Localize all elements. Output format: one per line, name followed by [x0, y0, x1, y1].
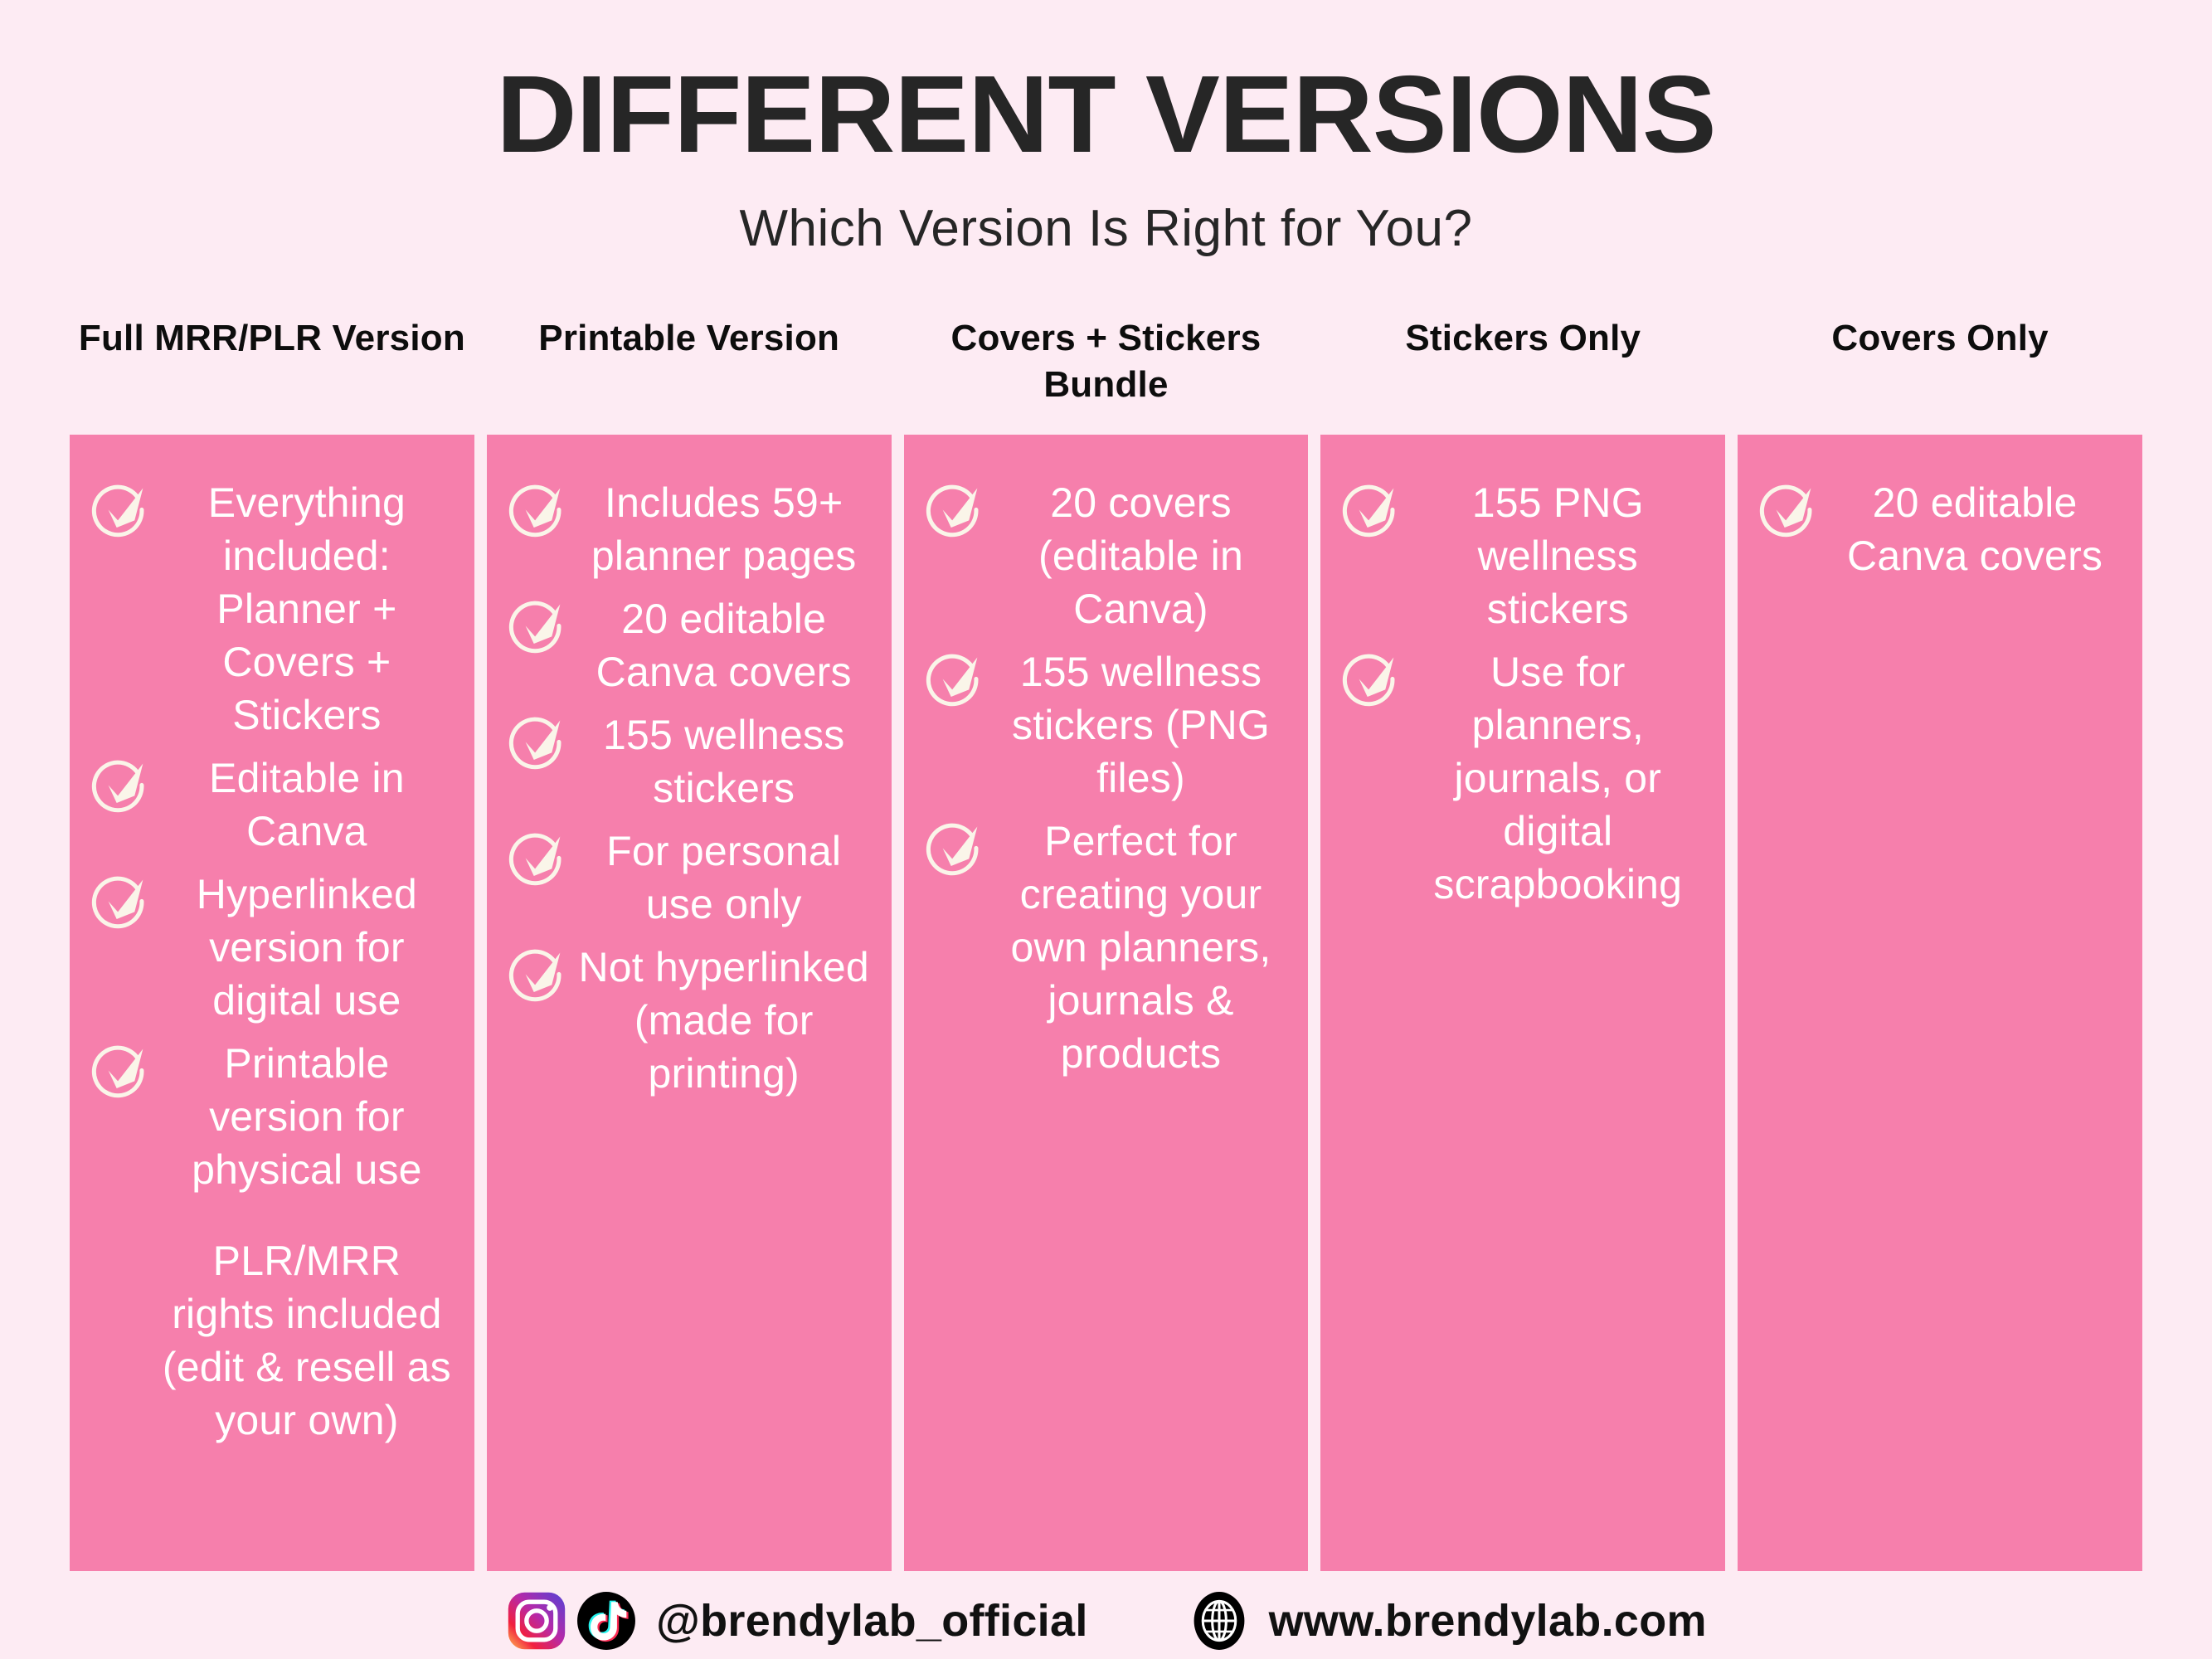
feature-label: Not hyperlinked (made for printing) — [575, 937, 873, 1100]
feature-label: 155 wellness stickers — [575, 705, 873, 815]
check-circle-icon — [88, 1034, 153, 1102]
column-panel: 155 PNG wellness stickers Use for planne… — [1320, 435, 1725, 1571]
check-circle-icon — [90, 870, 150, 930]
column-header: Printable Version — [487, 315, 892, 435]
check-circle-icon — [90, 479, 150, 538]
version-column: Printable Version Includes 59+ planner p… — [487, 315, 892, 1571]
feature-label: Includes 59+ planner pages — [575, 473, 873, 582]
feature-label: Everything included: Planner + Covers + … — [158, 473, 456, 742]
check-circle-icon — [1341, 479, 1401, 538]
check-circle-icon — [508, 827, 567, 887]
footer: @brendylab_official www.brendylab.com — [0, 1583, 2212, 1659]
page-header: DIFFERENT VERSIONS Which Version Is Righ… — [0, 0, 2212, 258]
feature-item: Perfect for creating your own planners, … — [922, 811, 1291, 1080]
version-column: Covers Only 20 editable Canva covers — [1738, 315, 2142, 1571]
check-circle-icon — [508, 943, 567, 1003]
feature-item: Use for planners, journals, or digital s… — [1339, 642, 1707, 911]
feature-label: Hyperlinked version for digital use — [158, 864, 456, 1027]
feature-label: 20 editable Canva covers — [575, 589, 873, 698]
page-subtitle: Which Version Is Right for You? — [0, 169, 2212, 258]
feature-item: 20 covers (editable in Canva) — [922, 473, 1291, 635]
version-comparison-grid: Full MRR/PLR Version Everything included… — [70, 315, 2142, 1571]
feature-label: 20 editable Canva covers — [1826, 473, 2124, 582]
check-circle-icon — [922, 642, 987, 710]
page-title: DIFFERENT VERSIONS — [0, 0, 2212, 169]
feature-item: 155 wellness stickers — [505, 705, 873, 815]
feature-item: Everything included: Planner + Covers + … — [88, 473, 456, 742]
check-circle-icon — [505, 705, 570, 773]
check-circle-icon — [1758, 479, 1818, 538]
check-circle-icon — [1756, 473, 1821, 541]
check-circle-icon — [505, 589, 570, 657]
website-label[interactable]: www.brendylab.com — [1269, 1595, 1707, 1647]
feature-item: Editable in Canva — [88, 748, 456, 858]
feature-label: Use for planners, journals, or digital s… — [1408, 642, 1707, 911]
feature-label: 155 PNG wellness stickers — [1408, 473, 1707, 635]
check-circle-icon — [88, 864, 153, 932]
social-icons — [505, 1589, 638, 1652]
version-column: Full MRR/PLR Version Everything included… — [70, 315, 474, 1571]
instagram-icon[interactable] — [505, 1589, 568, 1652]
tiktok-icon[interactable] — [575, 1589, 638, 1652]
check-circle-icon — [922, 811, 987, 879]
social-handle-group: @brendylab_official — [505, 1589, 1087, 1652]
column-panel: Includes 59+ planner pages 20 editable C… — [487, 435, 892, 1571]
check-circle-icon — [508, 595, 567, 654]
check-circle-icon — [1339, 642, 1403, 710]
feature-item: For personal use only — [505, 821, 873, 931]
check-circle-icon — [1341, 648, 1401, 708]
column-header: Stickers Only — [1320, 315, 1725, 435]
version-column: Stickers Only 155 PNG wellness stickers … — [1320, 315, 1725, 1571]
check-circle-icon — [508, 711, 567, 771]
column-header: Covers + Stickers Bundle — [904, 315, 1309, 435]
social-handle-label[interactable]: @brendylab_official — [656, 1595, 1087, 1647]
check-circle-icon — [1339, 473, 1403, 541]
column-panel: Everything included: Planner + Covers + … — [70, 435, 474, 1571]
column-panel: 20 covers (editable in Canva) 155 wellne… — [904, 435, 1309, 1571]
feature-item: 155 wellness stickers (PNG files) — [922, 642, 1291, 805]
feature-item: Hyperlinked version for digital use — [88, 864, 456, 1027]
column-header: Full MRR/PLR Version — [70, 315, 474, 435]
website-group: www.brendylab.com — [1188, 1589, 1707, 1652]
feature-item: Printable version for physical use — [88, 1034, 456, 1196]
feature-label: 20 covers (editable in Canva) — [992, 473, 1291, 635]
globe-icon[interactable] — [1188, 1589, 1251, 1652]
check-circle-icon — [925, 817, 984, 877]
feature-label: PLR/MRR rights included (edit & resell a… — [158, 1231, 456, 1447]
check-circle-icon — [505, 473, 570, 541]
version-column: Covers + Stickers Bundle 20 covers (edit… — [904, 315, 1309, 1571]
check-circle-icon — [505, 937, 570, 1005]
feature-item: 20 editable Canva covers — [1756, 473, 2124, 582]
feature-item: 155 PNG wellness stickers — [1339, 473, 1707, 635]
check-circle-icon — [925, 648, 984, 708]
check-circle-icon — [90, 1039, 150, 1099]
check-circle-icon — [505, 821, 570, 889]
feature-label: Printable version for physical use — [158, 1034, 456, 1196]
feature-item: PLR/MRR rights included (edit & resell a… — [88, 1231, 456, 1447]
column-header: Covers Only — [1738, 315, 2142, 435]
check-circle-icon — [90, 754, 150, 814]
feature-item: Includes 59+ planner pages — [505, 473, 873, 582]
feature-item: 20 editable Canva covers — [505, 589, 873, 698]
feature-label: For personal use only — [575, 821, 873, 931]
check-circle-icon — [88, 748, 153, 816]
feature-label: Perfect for creating your own planners, … — [992, 811, 1291, 1080]
column-panel: 20 editable Canva covers — [1738, 435, 2142, 1571]
check-circle-icon — [508, 479, 567, 538]
feature-label: Editable in Canva — [158, 748, 456, 858]
check-circle-icon — [922, 473, 987, 541]
check-circle-icon — [88, 473, 153, 541]
check-circle-icon — [925, 479, 984, 538]
feature-label: 155 wellness stickers (PNG files) — [992, 642, 1291, 805]
feature-item: Not hyperlinked (made for printing) — [505, 937, 873, 1100]
